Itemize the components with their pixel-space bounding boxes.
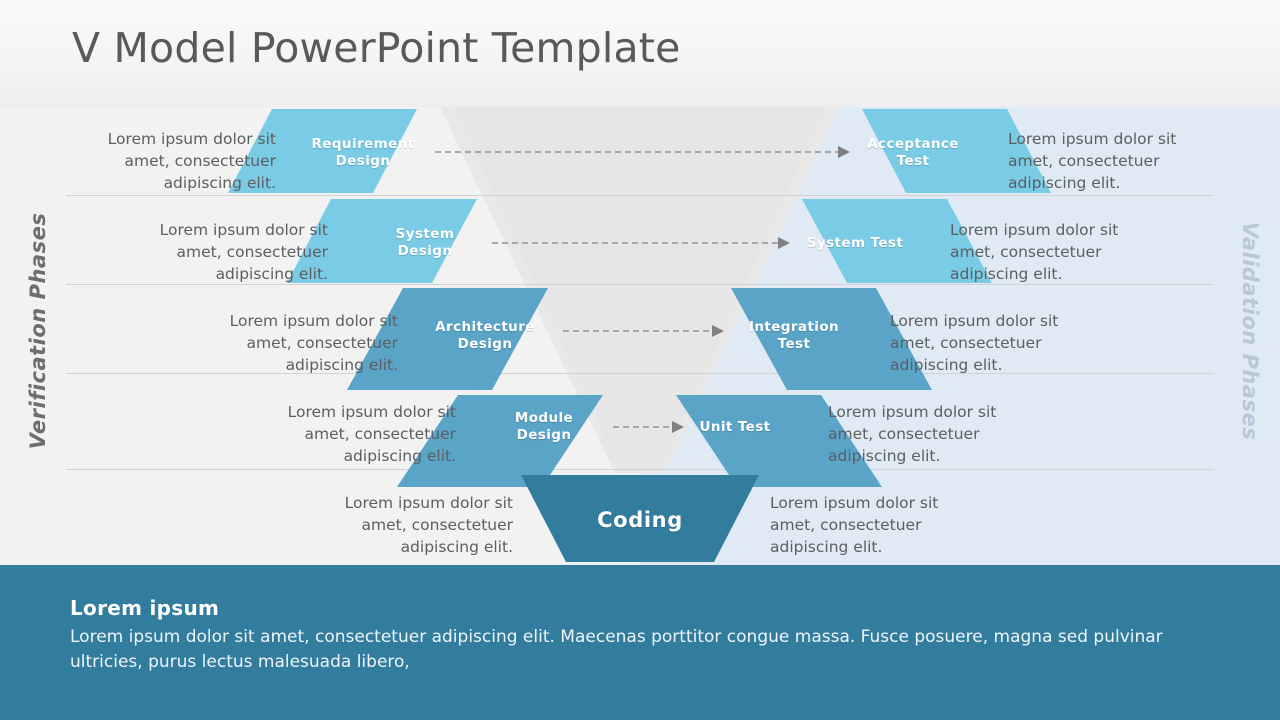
desc-system-design: Lorem ipsum dolor sit amet, consectetuer… [140, 219, 328, 285]
axis-label-validation-phases: Validation Phases [1238, 181, 1262, 481]
arrow-head-row3 [712, 325, 724, 337]
arrow-head-row2 [778, 237, 790, 249]
desc-requirement-design: Lorem ipsum dolor sit amet, consectetuer… [88, 128, 276, 194]
desc-integration-test: Lorem ipsum dolor sit amet, consectetuer… [890, 310, 1080, 376]
arrow-head-row4 [672, 421, 684, 433]
desc-architecture-design: Lorem ipsum dolor sit amet, consectetuer… [210, 310, 398, 376]
footer-body: Lorem ipsum dolor sit amet, consectetuer… [70, 625, 1210, 674]
shape-coding [521, 475, 759, 562]
desc-acceptance-test: Lorem ipsum dolor sit amet, consectetuer… [1008, 128, 1198, 194]
title-bar: V Model PowerPoint Template [0, 0, 1280, 107]
desc-coding-right: Lorem ipsum dolor sit amet, consectetuer… [770, 492, 960, 558]
desc-unit-test: Lorem ipsum dolor sit amet, consectetuer… [828, 401, 1018, 467]
slide-canvas: V Model PowerPoint Template [0, 0, 1280, 720]
diagram-stage: Requirement Design Acceptance Test Syste… [0, 107, 1280, 565]
arrow-head-row1 [838, 146, 850, 158]
desc-coding-left: Lorem ipsum dolor sit amet, consectetuer… [325, 492, 513, 558]
page-title: V Model PowerPoint Template [72, 24, 681, 72]
desc-module-design: Lorem ipsum dolor sit amet, consectetuer… [268, 401, 456, 467]
footer-title: Lorem ipsum [70, 596, 219, 620]
footer-bar: Lorem ipsum Lorem ipsum dolor sit amet, … [0, 565, 1280, 720]
axis-label-verification-phases: Verification Phases [26, 181, 50, 481]
desc-system-test: Lorem ipsum dolor sit amet, consectetuer… [950, 219, 1140, 285]
